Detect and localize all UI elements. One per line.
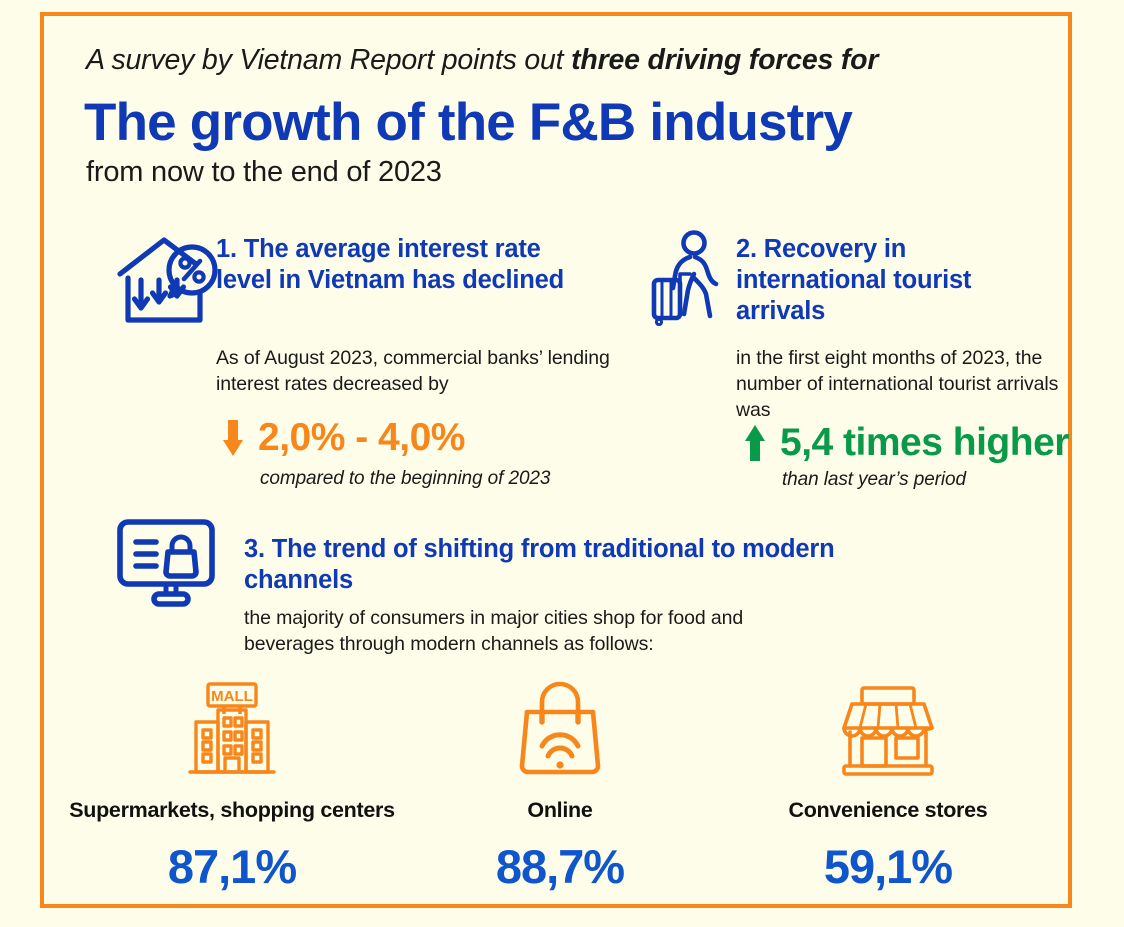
block-1-note: compared to the beginning of 2023 [260, 468, 550, 490]
block-2-stat-value: 5,4 times higher [780, 421, 1069, 465]
block-1-body: As of August 2023, commercial banks’ len… [216, 346, 636, 398]
block-2-stat: 5,4 times higher [744, 421, 1069, 465]
channel-stat-online: Online 88,7% [396, 676, 724, 894]
channel-label: Online [527, 798, 592, 823]
page-subtitle: from now to the end of 2023 [86, 156, 442, 189]
svg-text:MALL: MALL [211, 688, 253, 705]
storefront-icon [838, 676, 938, 776]
channel-label: Supermarkets, shopping centers [69, 798, 395, 823]
block-1-stat: 2,0% - 4,0% [222, 416, 465, 460]
block-2-title: 2. Recovery in international tourist arr… [736, 234, 1056, 327]
page-title: The growth of the F&B industry [84, 92, 852, 153]
arrow-up-icon [744, 423, 766, 463]
block-2-body: in the first eight months of 2023, the n… [736, 346, 1066, 424]
channel-stat-convenience: Convenience stores 59,1% [724, 676, 1052, 894]
block-1-stat-value: 2,0% - 4,0% [258, 416, 465, 460]
monitor-shopping-bag-icon [114, 516, 226, 610]
channel-stats-row: MALL [68, 676, 1052, 894]
block-2-note: than last year’s period [782, 469, 966, 491]
infographic-poster: A survey by Vietnam Report points out th… [0, 0, 1124, 927]
kicker-bold-text: three driving forces for [571, 44, 878, 76]
channel-label: Convenience stores [788, 798, 987, 823]
kicker-normal-text: A survey by Vietnam Report points out [86, 44, 571, 76]
channel-value: 88,7% [496, 839, 624, 894]
block-1-title: 1. The average interest rate level in Vi… [216, 234, 576, 296]
traveler-suitcase-icon [650, 230, 726, 326]
kicker-line: A survey by Vietnam Report points out th… [86, 44, 878, 77]
orange-frame-border: A survey by Vietnam Report points out th… [40, 12, 1072, 908]
arrow-down-icon [222, 418, 244, 458]
channel-value: 87,1% [168, 839, 296, 894]
mall-building-icon: MALL [184, 676, 280, 776]
block-3-title: 3. The trend of shifting from traditiona… [244, 534, 844, 596]
block-3-body: the majority of consumers in major citie… [244, 606, 824, 658]
channel-stat-supermarkets: MALL [68, 676, 396, 894]
shopping-bag-wifi-icon [515, 676, 605, 776]
house-rate-decline-icon [112, 230, 220, 330]
channel-value: 59,1% [824, 839, 952, 894]
